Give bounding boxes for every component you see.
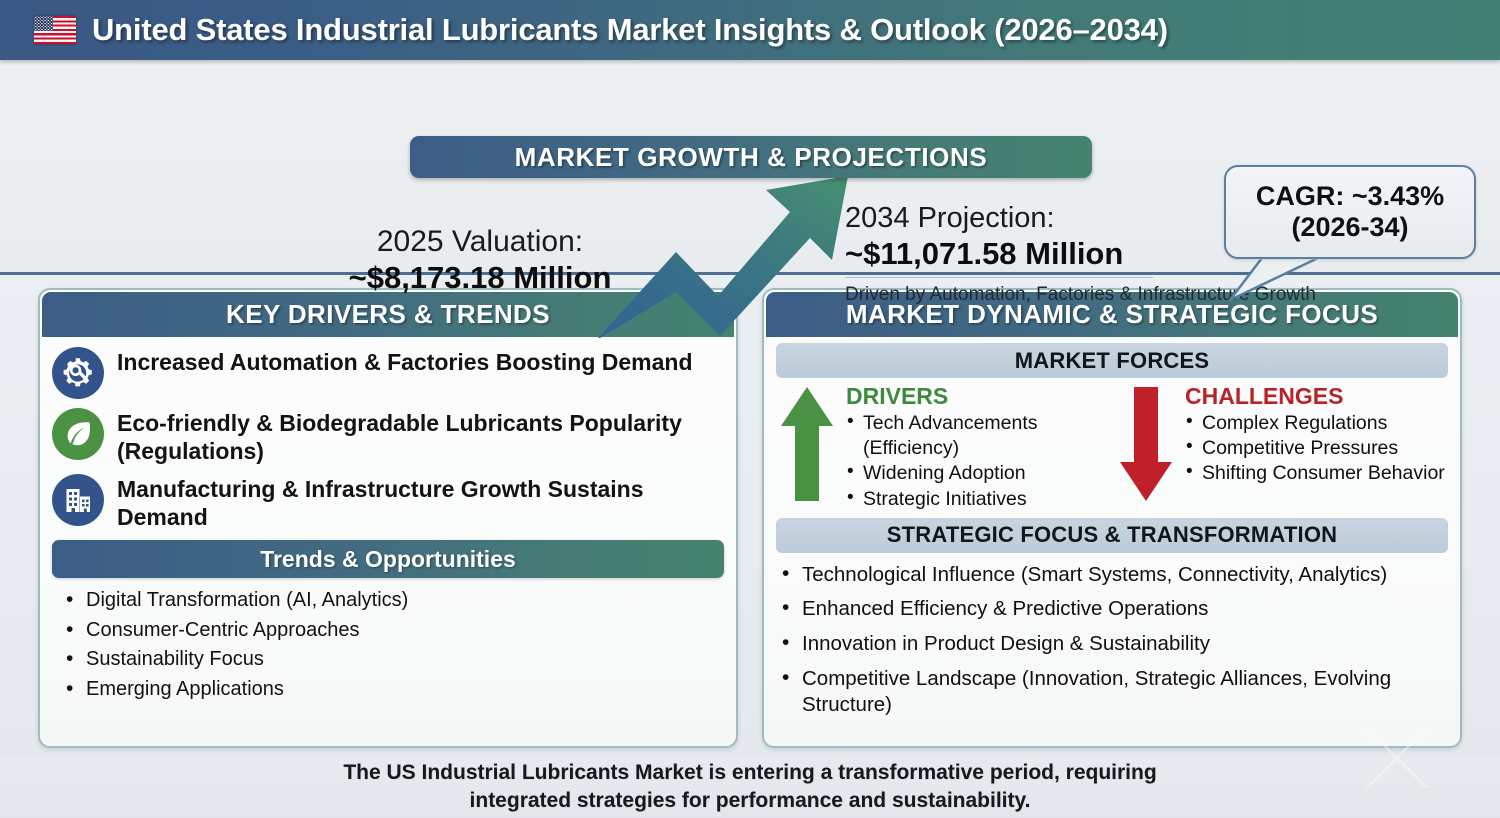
list-item: Innovation in Product Design & Sustainab…: [780, 631, 1460, 658]
list-item: Sustainability Focus: [64, 645, 736, 674]
list-item: Shifting Consumer Behavior: [1185, 461, 1445, 486]
page-title: United States Industrial Lubricants Mark…: [92, 12, 1168, 48]
challenges-list: Complex Regulations Competitive Pressure…: [1185, 411, 1445, 486]
trends-opportunities-title: Trends & Opportunities: [260, 546, 516, 573]
key-drivers-panel-title: KEY DRIVERS & TRENDS: [226, 299, 550, 330]
page-header: United States Industrial Lubricants Mark…: [0, 0, 1500, 60]
leaf-icon: [52, 408, 104, 460]
drivers-title: DRIVERS: [846, 384, 1111, 408]
strategic-focus-list: Technological Influence (Smart Systems, …: [780, 562, 1460, 719]
market-forces-challenges: CHALLENGES Complex Regulations Competiti…: [1111, 384, 1450, 512]
list-item: Consumer-Centric Approaches: [64, 616, 736, 645]
market-forces-body: DRIVERS Tech Advancements (Efficiency) W…: [764, 378, 1460, 512]
list-item: Enhanced Efficiency & Predictive Operati…: [780, 596, 1460, 623]
valuation-2025-label: 2025 Valuation:: [305, 225, 655, 259]
footer-line-2: integrated strategies for performance an…: [343, 787, 1156, 815]
market-forces-header: MARKET FORCES: [776, 343, 1448, 378]
cagr-value: CAGR: ~3.43%: [1256, 181, 1444, 212]
list-item: Increased Automation & Factories Boostin…: [52, 347, 724, 399]
trends-opportunities-list: Digital Transformation (AI, Analytics) C…: [64, 586, 736, 704]
projection-2034-amount: ~$11,071.58 Million: [845, 235, 1153, 277]
infographic-page: United States Industrial Lubricants Mark…: [0, 0, 1500, 818]
market-forces-drivers: DRIVERS Tech Advancements (Efficiency) W…: [778, 384, 1111, 512]
list-item: Competitive Pressures: [1185, 436, 1445, 461]
strategic-focus-header: STRATEGIC FOCUS & TRANSFORMATION: [776, 518, 1448, 553]
valuation-2025-amount: ~$8,173.18 Million: [305, 259, 655, 296]
key-drivers-list: Increased Automation & Factories Boostin…: [40, 337, 736, 531]
list-item: Strategic Initiatives: [846, 487, 1111, 512]
challenges-title: CHALLENGES: [1185, 384, 1445, 408]
list-item: Emerging Applications: [64, 675, 736, 704]
valuation-2025: 2025 Valuation: ~$8,173.18 Million: [305, 225, 655, 296]
list-item: Tech Advancements (Efficiency): [846, 411, 1111, 461]
list-item: Eco-friendly & Biodegradable Lubricants …: [52, 408, 724, 465]
market-dynamic-panel: MARKET DYNAMIC & STRATEGIC FOCUS MARKET …: [762, 288, 1462, 748]
flag-canton: [34, 16, 53, 31]
list-item-label: Increased Automation & Factories Boostin…: [117, 347, 693, 377]
footer-line-1: The US Industrial Lubricants Market is e…: [343, 759, 1156, 787]
market-growth-banner: MARKET GROWTH & PROJECTIONS: [410, 136, 1092, 178]
market-forces-title: MARKET FORCES: [1015, 348, 1210, 374]
page-footer: The US Industrial Lubricants Market is e…: [0, 756, 1500, 818]
list-item-label: Eco-friendly & Biodegradable Lubricants …: [117, 408, 724, 465]
list-item-label: Manufacturing & Infrastructure Growth Su…: [117, 474, 724, 531]
list-item: Technological Influence (Smart Systems, …: [780, 562, 1460, 589]
us-flag-icon: [34, 16, 76, 44]
list-item: Manufacturing & Infrastructure Growth Su…: [52, 474, 724, 531]
list-item: Digital Transformation (AI, Analytics): [64, 586, 736, 615]
gear-wrench-icon: [52, 347, 104, 399]
buildings-icon: [52, 474, 104, 526]
market-growth-banner-label: MARKET GROWTH & PROJECTIONS: [515, 142, 988, 173]
list-item: Competitive Landscape (Innovation, Strat…: [780, 666, 1460, 719]
cagr-callout: CAGR: ~3.43% (2026-34): [1224, 165, 1476, 259]
key-drivers-panel: KEY DRIVERS & TRENDS Increased Automatio…: [38, 288, 738, 748]
up-arrow-icon: [778, 384, 840, 512]
list-item: Complex Regulations: [1185, 411, 1445, 436]
list-item: Widening Adoption: [846, 461, 1111, 486]
cagr-period: (2026-34): [1291, 212, 1408, 243]
trends-opportunities-header: Trends & Opportunities: [52, 540, 724, 578]
drivers-list: Tech Advancements (Efficiency) Widening …: [846, 411, 1111, 512]
strategic-focus-title: STRATEGIC FOCUS & TRANSFORMATION: [887, 522, 1337, 548]
down-arrow-icon: [1117, 384, 1179, 512]
market-growth-section: MARKET GROWTH & PROJECTIONS 2025 Valuati…: [0, 60, 1500, 275]
